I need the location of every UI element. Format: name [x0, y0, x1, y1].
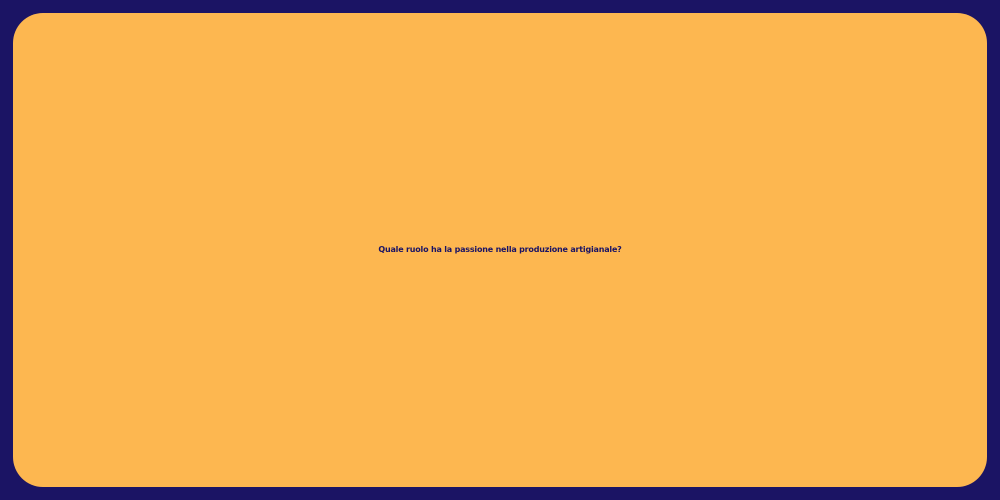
question-card: Quale ruolo ha la passione nella produzi… [13, 13, 987, 487]
card-outer-frame: Quale ruolo ha la passione nella produzi… [0, 0, 1000, 500]
question-text: Quale ruolo ha la passione nella produzi… [13, 245, 987, 255]
